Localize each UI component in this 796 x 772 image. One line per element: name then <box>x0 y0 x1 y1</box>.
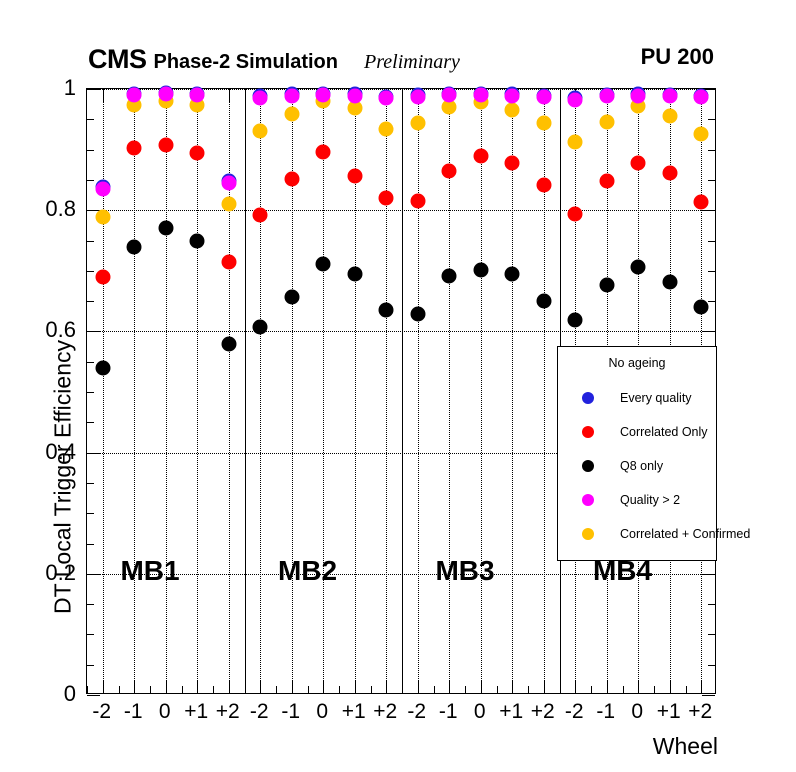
data-point <box>253 123 268 138</box>
x-tick-minor <box>87 686 88 693</box>
x-tick-major-top <box>103 89 104 102</box>
y-axis-tick-label: 0.2 <box>16 560 76 586</box>
x-axis-tick-label: -1 <box>596 700 615 724</box>
y-tick-minor <box>87 241 94 242</box>
y-tick-minor-right <box>708 604 715 605</box>
data-point <box>221 255 236 270</box>
data-point <box>253 91 268 106</box>
y-tick-minor <box>87 271 94 272</box>
x-tick-minor <box>150 686 151 693</box>
y-tick-minor <box>87 180 94 181</box>
y-tick-major-right <box>702 695 715 696</box>
x-axis-tick-label: 0 <box>631 700 643 724</box>
data-point <box>347 169 362 184</box>
simulation-label: Phase-2 Simulation <box>154 51 339 73</box>
x-tick-minor <box>654 686 655 693</box>
y-tick-major-right <box>702 331 715 332</box>
gridline-vertical <box>449 89 450 693</box>
data-point <box>505 102 520 117</box>
legend-entry: Correlated Only <box>558 417 716 447</box>
y-tick-major-right <box>702 210 715 211</box>
data-point <box>284 172 299 187</box>
y-tick-minor-right <box>708 301 715 302</box>
data-point <box>253 208 268 223</box>
legend-marker-icon <box>582 426 594 438</box>
x-tick-major <box>355 680 356 693</box>
data-point <box>631 88 646 103</box>
x-axis-tick-label: 0 <box>316 700 328 724</box>
data-point <box>662 166 677 181</box>
x-axis-tick-label: +2 <box>216 700 240 724</box>
data-point <box>536 294 551 309</box>
data-point <box>694 127 709 142</box>
x-tick-major <box>197 680 198 693</box>
data-point <box>662 89 677 104</box>
x-tick-major <box>229 680 230 693</box>
legend-box: No ageing Every qualityCorrelated OnlyQ8… <box>557 346 717 561</box>
y-axis-tick-label: 0 <box>16 681 76 707</box>
data-point <box>505 155 520 170</box>
legend-label: Correlated Only <box>620 425 708 439</box>
data-point <box>379 191 394 206</box>
y-tick-minor-right <box>708 150 715 151</box>
gridline-vertical <box>386 89 387 693</box>
x-axis-tick-label: 0 <box>474 700 486 724</box>
data-point <box>284 107 299 122</box>
x-tick-minor <box>213 686 214 693</box>
gridline-vertical <box>512 89 513 693</box>
data-point <box>127 88 142 103</box>
data-point <box>347 266 362 281</box>
data-point <box>442 268 457 283</box>
y-tick-minor-right <box>708 271 715 272</box>
x-tick-minor <box>623 686 624 693</box>
data-point <box>568 313 583 328</box>
chart-header: CMSPhase-2 SimulationPreliminary <box>88 44 460 70</box>
y-axis-tick-label: 1 <box>16 75 76 101</box>
data-point <box>599 89 614 104</box>
x-tick-major <box>544 680 545 693</box>
x-axis-tick-label: 0 <box>159 700 171 724</box>
y-tick-minor <box>87 392 94 393</box>
y-tick-major <box>87 89 100 90</box>
data-point <box>158 87 173 102</box>
x-tick-major-top <box>229 89 230 102</box>
y-tick-minor-right <box>708 241 715 242</box>
data-point <box>536 89 551 104</box>
station-separator <box>245 89 246 693</box>
data-point <box>473 88 488 103</box>
x-tick-minor <box>308 686 309 693</box>
legend-marker-icon <box>582 460 594 472</box>
data-point <box>316 88 331 103</box>
legend-marker-icon <box>582 528 594 540</box>
x-axis-tick-label: +1 <box>342 700 366 724</box>
data-point <box>379 121 394 136</box>
x-tick-major <box>134 680 135 693</box>
data-point <box>694 300 709 315</box>
x-axis-tick-label: -2 <box>565 700 584 724</box>
x-tick-major <box>481 680 482 693</box>
y-tick-minor <box>87 150 94 151</box>
data-point <box>536 115 551 130</box>
x-axis-tick-label: -2 <box>407 700 426 724</box>
data-point <box>662 108 677 123</box>
data-point <box>662 275 677 290</box>
data-point <box>410 307 425 322</box>
data-point <box>568 207 583 222</box>
y-axis-tick-label: 0.8 <box>16 196 76 222</box>
data-point <box>599 174 614 189</box>
plot-frame: DT Local Trigger Efficiency MB1MB2MB3MB4… <box>86 88 716 694</box>
x-axis-tick-label: -2 <box>92 700 111 724</box>
data-point <box>568 92 583 107</box>
data-point <box>158 220 173 235</box>
data-point <box>221 336 236 351</box>
y-tick-minor <box>87 483 94 484</box>
y-tick-minor <box>87 665 94 666</box>
y-tick-minor <box>87 604 94 605</box>
gridline-horizontal <box>87 89 715 90</box>
data-point <box>190 233 205 248</box>
data-point <box>410 115 425 130</box>
x-tick-major <box>260 680 261 693</box>
y-tick-minor <box>87 544 94 545</box>
x-tick-major <box>670 680 671 693</box>
data-point <box>190 145 205 160</box>
y-axis-tick-label: 0.4 <box>16 439 76 465</box>
data-point <box>473 149 488 164</box>
data-point <box>568 135 583 150</box>
gridline-horizontal <box>87 210 715 211</box>
y-tick-minor-right <box>708 634 715 635</box>
legend-title: No ageing <box>558 356 716 370</box>
data-point <box>694 89 709 104</box>
x-tick-minor <box>560 686 561 693</box>
data-point <box>631 155 646 170</box>
legend-label: Q8 only <box>620 459 663 473</box>
gridline-vertical <box>134 89 135 693</box>
x-tick-major <box>166 680 167 693</box>
station-label-mb2: MB2 <box>278 555 337 587</box>
gridline-vertical <box>197 89 198 693</box>
x-tick-major <box>575 680 576 693</box>
data-point <box>379 91 394 106</box>
data-point <box>221 197 236 212</box>
data-point <box>95 181 110 196</box>
x-axis-tick-label: -2 <box>250 700 269 724</box>
data-point <box>694 195 709 210</box>
data-point <box>599 277 614 292</box>
data-point <box>127 141 142 156</box>
legend-marker-icon <box>582 494 594 506</box>
x-tick-minor <box>276 686 277 693</box>
data-point <box>284 88 299 103</box>
legend-label: Every quality <box>620 391 692 405</box>
y-tick-minor-right <box>708 665 715 666</box>
y-tick-major <box>87 453 100 454</box>
y-axis-tick-label: 0.6 <box>16 317 76 343</box>
data-point <box>127 239 142 254</box>
x-tick-minor <box>465 686 466 693</box>
x-tick-major <box>701 680 702 693</box>
legend-entry: Every quality <box>558 383 716 413</box>
x-tick-major <box>449 680 450 693</box>
x-axis-tick-label: -1 <box>124 700 143 724</box>
legend-label: Quality > 2 <box>620 493 680 507</box>
legend-entry: Correlated + Confirmed <box>558 519 716 549</box>
data-point <box>599 115 614 130</box>
y-tick-minor <box>87 513 94 514</box>
data-point <box>505 88 520 103</box>
data-point <box>95 210 110 225</box>
x-tick-minor <box>119 686 120 693</box>
x-tick-major <box>103 680 104 693</box>
gridline-vertical <box>418 89 419 693</box>
x-axis-tick-label: +1 <box>657 700 681 724</box>
x-tick-major <box>386 680 387 693</box>
data-point <box>505 266 520 281</box>
x-tick-major <box>418 680 419 693</box>
preliminary-label: Preliminary <box>364 51 460 73</box>
data-point <box>221 175 236 190</box>
y-tick-minor <box>87 362 94 363</box>
x-tick-major <box>512 680 513 693</box>
x-axis-tick-label: +1 <box>184 700 208 724</box>
x-tick-minor <box>402 686 403 693</box>
station-label-mb3: MB3 <box>435 555 494 587</box>
data-point <box>442 88 457 103</box>
gridline-horizontal <box>87 331 715 332</box>
cms-logo-text: CMS <box>88 44 147 74</box>
legend-entry: Q8 only <box>558 451 716 481</box>
data-point <box>253 319 268 334</box>
data-point <box>316 145 331 160</box>
y-tick-major <box>87 574 100 575</box>
x-tick-minor <box>591 686 592 693</box>
data-point <box>95 269 110 284</box>
data-point <box>347 88 362 103</box>
pileup-label: PU 200 <box>641 44 714 70</box>
x-tick-minor <box>528 686 529 693</box>
gridline-vertical <box>323 89 324 693</box>
data-point <box>410 89 425 104</box>
data-point <box>95 360 110 375</box>
y-tick-minor <box>87 422 94 423</box>
y-tick-minor-right <box>708 180 715 181</box>
y-tick-minor <box>87 119 94 120</box>
y-tick-major <box>87 695 100 696</box>
data-point <box>316 257 331 272</box>
x-axis-tick-label: -1 <box>281 700 300 724</box>
x-tick-minor <box>434 686 435 693</box>
x-tick-major <box>292 680 293 693</box>
x-axis-title: Wheel <box>653 733 718 760</box>
y-tick-minor <box>87 634 94 635</box>
data-point <box>631 260 646 275</box>
x-tick-minor <box>686 686 687 693</box>
data-point <box>190 88 205 103</box>
chart-canvas: CMSPhase-2 SimulationPreliminary PU 200 … <box>0 0 796 772</box>
x-tick-minor <box>182 686 183 693</box>
x-tick-major <box>323 680 324 693</box>
x-tick-minor <box>245 686 246 693</box>
x-tick-minor <box>371 686 372 693</box>
x-axis-tick-label: +1 <box>499 700 523 724</box>
data-point <box>410 194 425 209</box>
station-label-mb1: MB1 <box>120 555 179 587</box>
x-axis-tick-label: +2 <box>688 700 712 724</box>
gridline-vertical <box>481 89 482 693</box>
y-tick-minor <box>87 301 94 302</box>
y-tick-major <box>87 331 100 332</box>
station-separator <box>402 89 403 693</box>
legend-entry: Quality > 2 <box>558 485 716 515</box>
x-axis-tick-label: +2 <box>373 700 397 724</box>
data-point <box>442 164 457 179</box>
x-axis-tick-label: +2 <box>531 700 555 724</box>
y-tick-minor-right <box>708 119 715 120</box>
data-point <box>284 289 299 304</box>
legend-label: Correlated + Confirmed <box>620 527 750 541</box>
data-point <box>158 137 173 152</box>
data-point <box>536 177 551 192</box>
x-tick-minor <box>497 686 498 693</box>
data-point <box>379 303 394 318</box>
x-tick-major <box>638 680 639 693</box>
x-tick-minor <box>339 686 340 693</box>
gridline-vertical <box>260 89 261 693</box>
data-point <box>473 263 488 278</box>
legend-marker-icon <box>582 392 594 404</box>
gridline-vertical <box>166 89 167 693</box>
x-axis-tick-label: -1 <box>439 700 458 724</box>
x-tick-major <box>607 680 608 693</box>
y-tick-major-right <box>702 574 715 575</box>
